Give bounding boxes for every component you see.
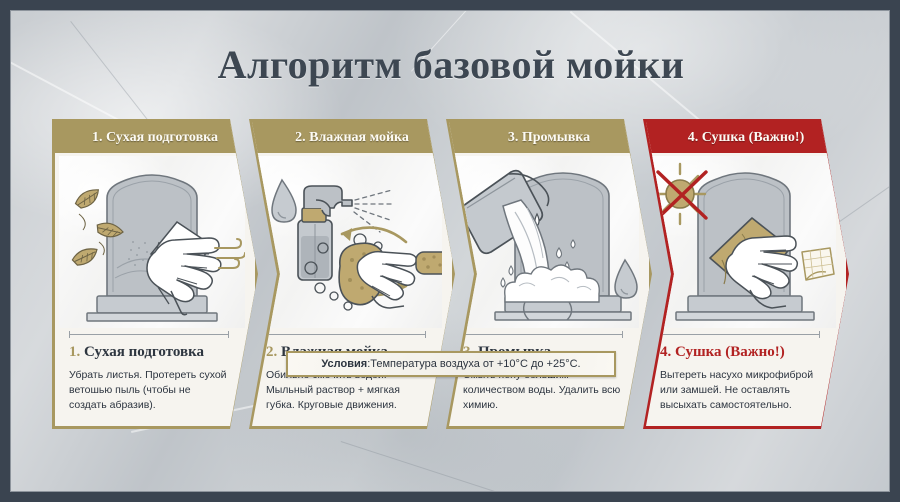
step-4-description: Вытереть насухо микрофиброй или замшей. … <box>660 368 822 413</box>
hand-with-sponge-icon <box>339 243 416 308</box>
step-1-number: 1. <box>69 344 80 360</box>
step-2-divider <box>266 334 426 335</box>
poster-canvas: Алгоритм базовой мойки 1. Сухая подготов… <box>10 10 890 492</box>
step-1-name: Сухая подготовка <box>84 344 204 360</box>
conditions-text: Температура воздуха от +10°C до +25°C. <box>370 358 580 370</box>
marble-vein <box>341 441 532 492</box>
water-drop-icon <box>272 180 296 222</box>
conditions-label: Условия <box>321 358 367 370</box>
step-1-title: 1. Сухая подготовка <box>69 344 237 361</box>
step-panel-4-body: 4. Сушка (Важно!) <box>646 122 846 426</box>
step-4-header: 4. Сушка (Важно!) <box>646 122 846 153</box>
step-panel-2-body: 2. Влажная мойка <box>252 122 452 426</box>
spray-mist-icon <box>354 190 394 232</box>
step-panel-1[interactable]: 1. Сухая подготовка <box>52 119 258 429</box>
water-drop-icon <box>615 260 637 298</box>
step-3-illustration <box>453 156 639 328</box>
step-4-illustration <box>650 156 836 328</box>
step-4-divider <box>660 334 820 335</box>
step-panel-1-body: 1. Сухая подготовка <box>55 122 255 426</box>
step-2-header: 2. Влажная мойка <box>252 122 452 153</box>
steps-row: 1. Сухая подготовка <box>11 119 890 431</box>
step-2-illustration <box>256 156 442 328</box>
step-2-number: 2. <box>266 344 277 360</box>
folded-cloth-icon <box>802 248 834 280</box>
step-panel-3[interactable]: 3. Промывка <box>446 119 652 429</box>
step-3-divider <box>463 334 623 335</box>
step-1-header: 1. Сухая подготовка <box>55 122 255 153</box>
page-title: Алгоритм базовой мойки <box>11 41 890 88</box>
step-panel-2[interactable]: 2. Влажная мойка <box>249 119 455 429</box>
step-1-divider <box>69 334 229 335</box>
step-3-header: 3. Промывка <box>449 122 649 153</box>
conditions-bar: Условия: Температура воздуха от +10°C до… <box>286 351 616 377</box>
sponge-icon <box>416 252 442 274</box>
step-panel-3-body: 3. Промывка <box>449 122 649 426</box>
step-4-name: Сушка (Важно!) <box>675 344 785 360</box>
step-4-title: 4. Сушка (Важно!) <box>660 344 828 361</box>
step-1-illustration <box>59 156 245 328</box>
step-1-description: Убрать листья. Протереть сухой ветошью п… <box>69 368 231 413</box>
poster-frame: Алгоритм базовой мойки 1. Сухая подготов… <box>0 0 900 502</box>
step-4-number: 4. <box>660 344 671 360</box>
step-panel-4[interactable]: 4. Сушка (Важно!) <box>643 119 849 429</box>
